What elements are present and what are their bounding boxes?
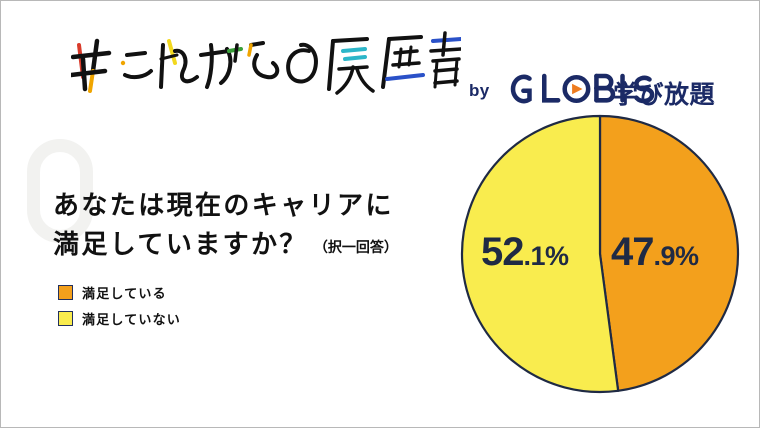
question-line-1: あなたは現在のキャリアに	[53, 187, 443, 226]
brand-handwritten-logo	[71, 25, 461, 101]
question-block: あなたは現在のキャリアに 満足していますか？ （択一回答）	[53, 187, 443, 269]
pie-value-fraction: .9%	[654, 241, 699, 272]
legend-swatch-icon	[58, 311, 73, 326]
legend-swatch-icon	[58, 285, 73, 300]
legend-item-not-satisfied: 満足していない	[58, 309, 181, 328]
legend-item-satisfied: 満足している	[58, 283, 181, 302]
globis-suffix-label: 学び放題	[613, 75, 715, 111]
question-line-2: 満足していますか？	[53, 226, 308, 265]
pie-chart: 52 .1% 47 .9%	[459, 113, 741, 395]
pie-value-fraction: .1%	[524, 241, 569, 272]
chart-legend: 満足している 満足していない	[58, 283, 181, 335]
by-label: by	[469, 81, 490, 101]
legend-label: 満足している	[82, 283, 167, 302]
legend-label: 満足していない	[82, 309, 181, 328]
globis-triangle-icon	[572, 84, 582, 94]
pie-label-satisfied: 47 .9%	[611, 230, 699, 275]
infographic-canvas: by 学び放題 あなたは現在のキャリ	[0, 0, 760, 428]
header: by 学び放題	[1, 25, 760, 101]
pie-label-not-satisfied: 52 .1%	[481, 230, 569, 275]
pie-value-integer: 52	[481, 230, 524, 275]
question-answer-note: （択一回答）	[314, 229, 398, 268]
pie-value-integer: 47	[611, 230, 654, 275]
